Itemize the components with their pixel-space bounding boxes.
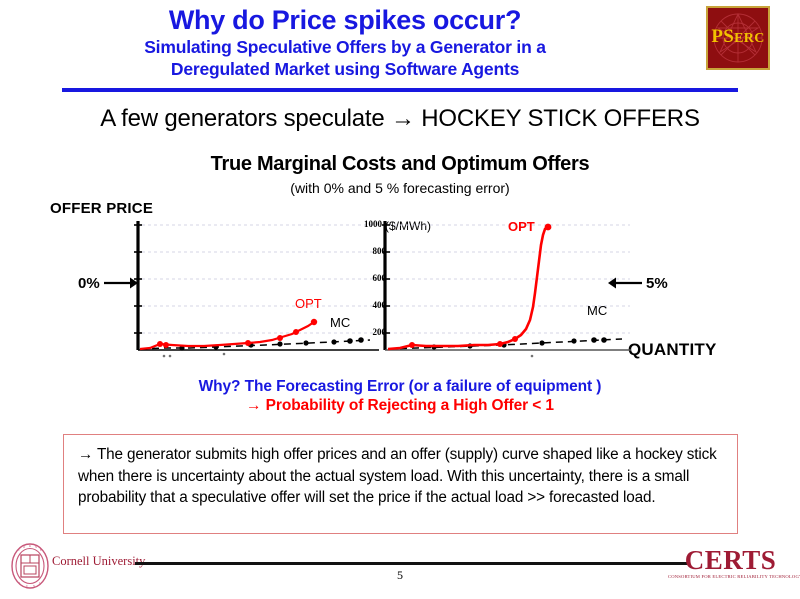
chart-title: True Marginal Costs and Optimum Offers (0, 153, 800, 176)
certs-logo: CERTS CONSORTIUM FOR ELECTRIC RELIABILIT… (668, 546, 793, 579)
pserc-logo-text: PSERC (708, 27, 768, 49)
footer-divider (135, 562, 688, 565)
chart-subtitle: (with 0% and 5 % forecasting error) (0, 180, 800, 196)
callout-box: → The generator submits high offer price… (63, 434, 738, 534)
page-subtitle-line1: Simulating Speculative Offers by a Gener… (0, 36, 690, 58)
page-subtitle-line2: Deregulated Market using Software Agents (0, 58, 690, 80)
title-divider (62, 88, 738, 92)
slide-title-block: Why do Price spikes occur? Simulating Sp… (0, 4, 690, 80)
annotation-5pct: 5% (646, 275, 668, 292)
page-title: Why do Price spikes occur? (0, 4, 690, 36)
svg-text:E: E (40, 548, 42, 552)
svg-text:R: R (29, 544, 31, 548)
why-line-2: → Probability of Rejecting a High Offer … (0, 397, 800, 415)
lead-statement: A few generators speculate → HOCKEY STIC… (0, 105, 800, 133)
svg-text:C: C (18, 548, 20, 552)
series-label-mc-left: MC (330, 315, 350, 330)
pserc-logo: PSERC (706, 6, 770, 70)
annotation-0pct: 0% (78, 275, 100, 292)
certs-wordmark: CERTS (668, 546, 793, 574)
series-label-opt-left: OPT (295, 296, 322, 311)
series-opt-right (388, 227, 548, 349)
slide-canvas: Why do Price spikes occur? Simulating Sp… (0, 0, 800, 599)
why-line-1: Why? The Forecasting Error (or a failure… (0, 378, 800, 396)
ytick-1000: 1000 (356, 219, 382, 229)
chart-right-5pct (382, 215, 632, 360)
chart-left-0pct (120, 215, 380, 360)
series-mc-right-markers (431, 337, 606, 349)
series-opt-right-markers (409, 224, 551, 348)
certs-tagline: CONSORTIUM FOR ELECTRIC RELIABILITY TECH… (668, 574, 793, 579)
series-label-mc-right: MC (587, 303, 607, 318)
callout-text: → The generator submits high offer price… (78, 444, 725, 509)
series-label-opt-right: OPT (508, 219, 535, 234)
svg-text:O: O (23, 545, 26, 549)
x-axis-caption: QUANTITY (628, 340, 716, 360)
cornell-university-label: Cornell University (52, 554, 145, 569)
